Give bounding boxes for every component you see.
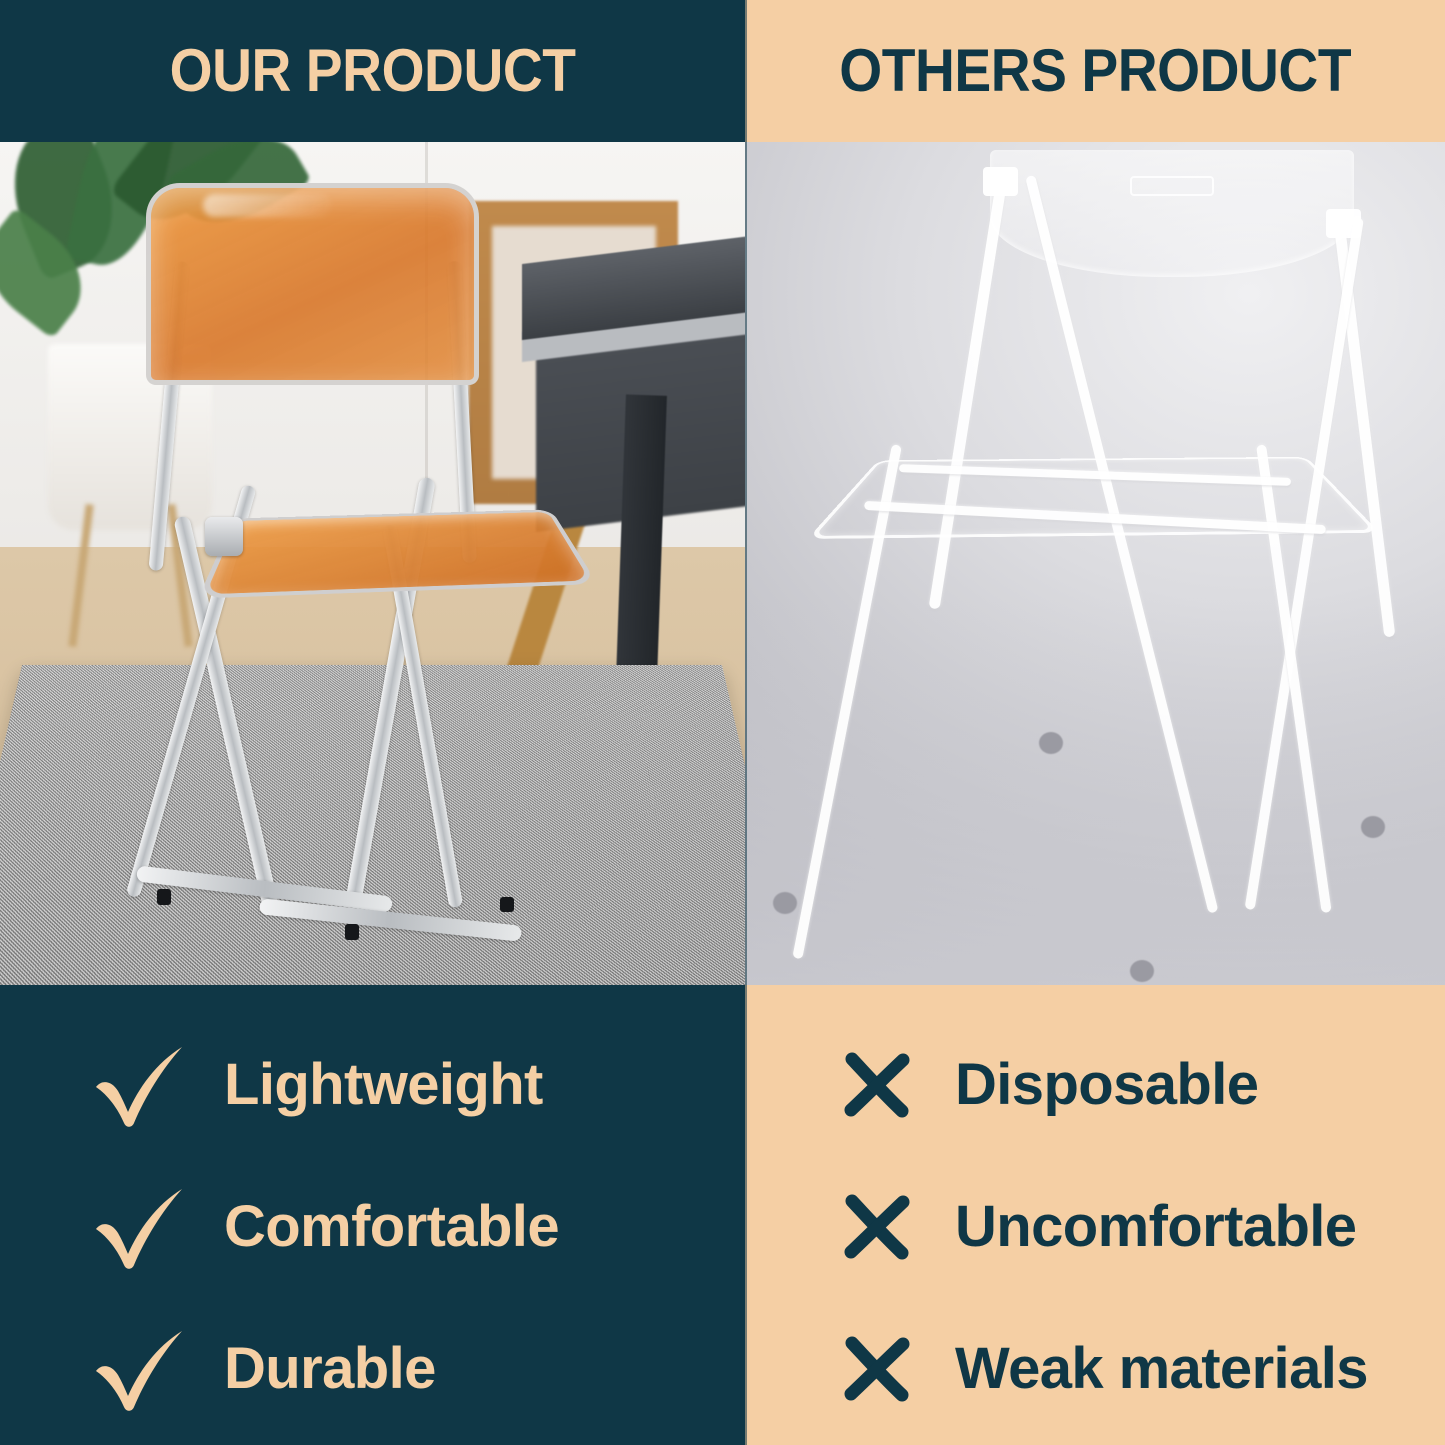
feature-label: Lightweight — [224, 1056, 543, 1114]
clear-backrest-slot — [1130, 176, 1214, 196]
list-item: Comfortable — [86, 1179, 745, 1275]
chair-hinge — [205, 517, 243, 556]
clear-chair-foot — [773, 892, 797, 914]
list-item: Disposable — [821, 1037, 1445, 1133]
list-item: Uncomfortable — [821, 1179, 1445, 1275]
cross-icon — [821, 1179, 933, 1275]
features-others-list: Disposable Uncomfortable — [745, 1037, 1445, 1417]
clear-folding-chair — [745, 142, 1445, 985]
clear-chair-foot — [1130, 960, 1154, 982]
features-ours-list: Lightweight Comfortable Durable — [0, 1037, 745, 1417]
cross-icon — [821, 1037, 933, 1133]
list-item: Durable — [86, 1321, 745, 1417]
clear-chair-joint — [983, 167, 1018, 196]
clear-chair-foot — [1361, 816, 1385, 838]
feature-label: Disposable — [955, 1056, 1258, 1114]
clear-chair-foot — [1039, 732, 1063, 754]
product-photo-others — [745, 142, 1445, 985]
product-photo-ours — [0, 142, 745, 985]
studio-background — [745, 142, 1445, 985]
product-comparison-infographic: OUR PRODUCT OTHERS PRODUCT — [0, 0, 1445, 1445]
chair-foot-tip — [500, 897, 514, 913]
backrest-highlight — [203, 194, 332, 217]
clear-chair-joint — [1326, 209, 1361, 238]
clear-chair-bar — [928, 175, 1007, 610]
features-others-panel: Disposable Uncomfortable — [745, 985, 1445, 1445]
chair-foot-tip — [345, 924, 359, 940]
panel-divider — [745, 0, 747, 1445]
clear-chair-bar — [1333, 217, 1395, 637]
header-others: OTHERS PRODUCT — [745, 0, 1445, 142]
room-scene — [0, 142, 745, 985]
chair-seat-panel — [198, 509, 598, 598]
list-item: Weak materials — [821, 1321, 1445, 1417]
header-ours-title: OUR PRODUCT — [170, 41, 576, 101]
check-icon — [86, 1179, 198, 1275]
features-ours-panel: Lightweight Comfortable Durable — [0, 985, 745, 1445]
chair-foot-tip — [157, 889, 171, 905]
amber-folding-chair — [82, 176, 618, 952]
header-ours: OUR PRODUCT — [0, 0, 745, 142]
header-others-title: OTHERS PRODUCT — [839, 41, 1351, 101]
feature-label: Comfortable — [224, 1198, 559, 1256]
clear-chair-leg — [1025, 175, 1218, 914]
feature-label: Weak materials — [955, 1340, 1368, 1398]
feature-label: Uncomfortable — [955, 1198, 1356, 1256]
clear-chair-leg — [1245, 217, 1364, 910]
chair-backrest-panel — [146, 183, 479, 385]
check-icon — [86, 1037, 198, 1133]
feature-label: Durable — [224, 1340, 436, 1398]
check-icon — [86, 1321, 198, 1417]
cross-icon — [821, 1321, 933, 1417]
list-item: Lightweight — [86, 1037, 745, 1133]
